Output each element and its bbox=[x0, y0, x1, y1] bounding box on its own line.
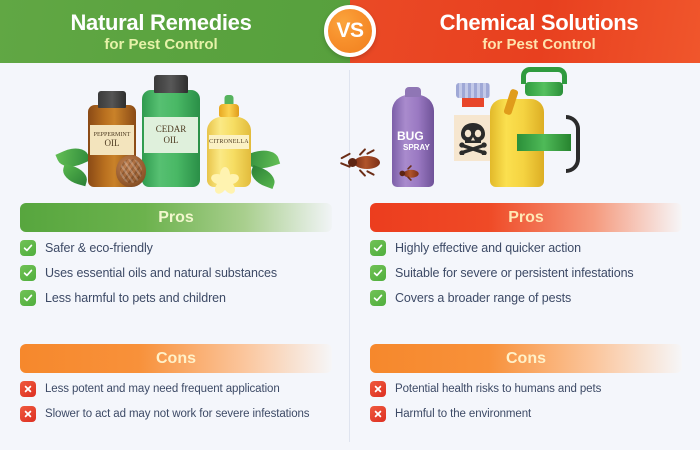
check-icon bbox=[20, 290, 36, 306]
bottle-cedar-oil: CEDAR OIL bbox=[140, 75, 202, 187]
chemical-illustration: BUG SPRAY bbox=[350, 63, 700, 195]
chemical-cons-section: Cons Potential health risks to humans an… bbox=[370, 344, 682, 431]
column-chemical: BUG SPRAY bbox=[350, 63, 700, 450]
natural-cons-list: Less potent and may need frequent applic… bbox=[20, 381, 332, 422]
check-icon bbox=[20, 240, 36, 256]
bottle-label-cedar: CEDAR OIL bbox=[144, 117, 198, 153]
natural-pros-list: Safer & eco-friendly Uses essential oils… bbox=[20, 240, 332, 306]
list-item: Suitable for severe or persistent infest… bbox=[370, 265, 682, 281]
cross-icon bbox=[20, 381, 36, 397]
vs-badge: VS bbox=[324, 5, 376, 57]
natural-cons-header: Cons bbox=[20, 344, 332, 373]
natural-illustration: PEPPERMINT OIL CEDAR OIL CITRONELLA bbox=[0, 63, 350, 195]
bottle-cap bbox=[98, 91, 126, 108]
cross-icon bbox=[20, 406, 36, 422]
can-top bbox=[405, 87, 421, 97]
cockroach-icon bbox=[400, 168, 420, 178]
chemical-cons-heading: Cons bbox=[506, 350, 546, 368]
list-item: Less harmful to pets and children bbox=[20, 290, 332, 306]
list-item-label: Covers a broader range of pests bbox=[395, 291, 571, 305]
bottle-label-peppermint: PEPPERMINT OIL bbox=[90, 125, 134, 155]
list-item-label: Less harmful to pets and children bbox=[45, 291, 226, 305]
list-item-label: Less potent and may need frequent applic… bbox=[45, 383, 280, 395]
chemical-cons-list: Potential health risks to humans and pet… bbox=[370, 381, 682, 422]
natural-pros-header: Pros bbox=[20, 203, 332, 232]
chemical-cons-header: Cons bbox=[370, 344, 682, 373]
list-item: Covers a broader range of pests bbox=[370, 290, 682, 306]
chemical-pros-list: Highly effective and quicker action Suit… bbox=[370, 240, 682, 306]
sprayer-band bbox=[517, 134, 571, 151]
check-icon bbox=[370, 265, 386, 281]
list-item: Uses essential oils and natural substanc… bbox=[20, 265, 332, 281]
natural-cons-section: Cons Less potent and may need frequent a… bbox=[20, 344, 332, 431]
list-item-label: Uses essential oils and natural substanc… bbox=[45, 266, 277, 280]
list-item: Potential health risks to humans and pet… bbox=[370, 381, 682, 397]
vs-label: VS bbox=[336, 19, 363, 43]
bug-spray-can: BUG SPRAY bbox=[390, 87, 436, 187]
natural-cons-heading: Cons bbox=[156, 350, 196, 368]
list-item: Slower to act ad may not work for severe… bbox=[20, 406, 332, 422]
bottle-cap bbox=[154, 75, 188, 93]
bug-spray-label-line1: BUG bbox=[397, 129, 424, 143]
natural-pros-heading: Pros bbox=[158, 209, 194, 227]
list-item: Highly effective and quicker action bbox=[370, 240, 682, 256]
bottle-cap bbox=[456, 83, 490, 98]
chemical-pros-heading: Pros bbox=[508, 209, 544, 227]
list-item-label: Harmful to the environment bbox=[395, 408, 531, 420]
pinecone-icon bbox=[116, 155, 146, 187]
garden-sprayer bbox=[505, 67, 580, 187]
flower-icon bbox=[212, 165, 238, 187]
natural-pros-section: Pros Safer & eco-friendly Uses essential… bbox=[20, 203, 332, 315]
list-item-label: Suitable for severe or persistent infest… bbox=[395, 266, 634, 280]
list-item: Harmful to the environment bbox=[370, 406, 682, 422]
header-left-subtitle: for Pest Control bbox=[104, 37, 217, 53]
check-icon bbox=[370, 240, 386, 256]
bottle-neck bbox=[462, 97, 484, 107]
header-right-title: Chemical Solutions bbox=[440, 11, 639, 34]
sprayer-handle bbox=[521, 67, 567, 84]
cross-icon bbox=[370, 406, 386, 422]
header-right-subtitle: for Pest Control bbox=[482, 37, 595, 53]
header-right-chemical: Chemical Solutions for Pest Control bbox=[350, 0, 700, 63]
check-icon bbox=[20, 265, 36, 281]
list-item: Less potent and may need frequent applic… bbox=[20, 381, 332, 397]
bottle-label-citronella: CITRONELLA bbox=[209, 135, 249, 149]
check-icon bbox=[370, 290, 386, 306]
list-item: Safer & eco-friendly bbox=[20, 240, 332, 256]
bottle-cap bbox=[219, 104, 239, 117]
skull-and-crossbones-icon bbox=[454, 115, 492, 161]
list-item-label: Safer & eco-friendly bbox=[45, 241, 153, 255]
header-left-title: Natural Remedies bbox=[70, 11, 251, 34]
list-item-label: Highly effective and quicker action bbox=[395, 241, 581, 255]
column-natural: PEPPERMINT OIL CEDAR OIL CITRONELLA bbox=[0, 63, 350, 450]
sprayer-collar bbox=[525, 82, 563, 96]
list-item-label: Slower to act ad may not work for severe… bbox=[45, 408, 309, 420]
cockroach-icon bbox=[348, 154, 382, 171]
bug-spray-label-line2: SPRAY bbox=[403, 143, 430, 152]
chemical-pros-header: Pros bbox=[370, 203, 682, 232]
cross-icon bbox=[370, 381, 386, 397]
list-item-label: Potential health risks to humans and pet… bbox=[395, 383, 601, 395]
chemical-pros-section: Pros Highly effective and quicker action… bbox=[370, 203, 682, 315]
header-left-natural: Natural Remedies for Pest Control bbox=[0, 0, 350, 63]
